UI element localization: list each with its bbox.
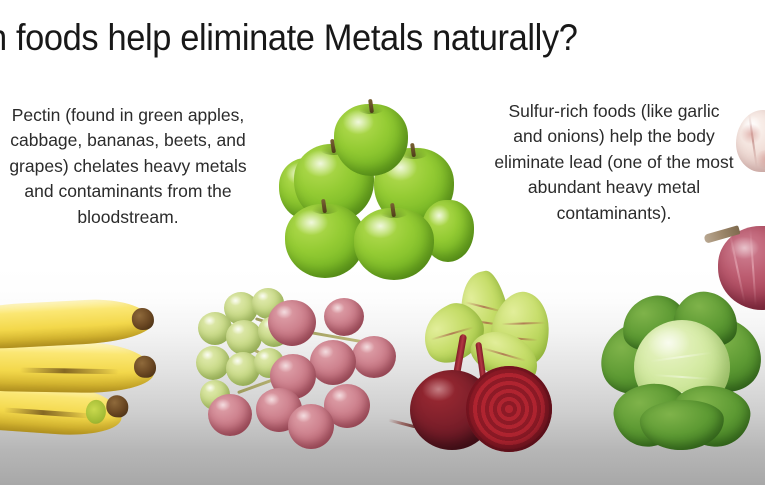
grape-red	[324, 298, 364, 336]
grape-red	[208, 394, 252, 436]
bananas-image	[0, 302, 182, 442]
onion-skin-line	[728, 231, 745, 304]
sulfur-paragraph: Sulfur-rich foods (like garlic and onion…	[492, 99, 736, 226]
cabbage-vein	[650, 352, 712, 362]
beet-leaf-vein	[501, 322, 545, 325]
cabbage-image	[600, 290, 762, 460]
garlic-blush	[740, 124, 762, 144]
pectin-paragraph: Pectin (found in green apples, cabbage, …	[8, 103, 248, 230]
banana-bruise-mark	[20, 368, 119, 375]
slide-canvas: n foods help eliminate Metals naturally?…	[0, 0, 765, 500]
apple-bottom-left	[285, 204, 365, 278]
banana-tip-icon	[131, 307, 154, 330]
grape-green	[196, 346, 230, 380]
cabbage-vein	[654, 374, 710, 379]
beets-image	[404, 272, 552, 464]
banana-green-tip	[85, 399, 107, 424]
background-bottom-strip	[0, 485, 765, 500]
onion-skin-line	[749, 228, 756, 306]
page-title: n foods help eliminate Metals naturally?	[0, 16, 658, 60]
apple-bottom-center	[354, 208, 434, 280]
beet-sliced	[466, 366, 552, 452]
beet-leaf-vein	[431, 326, 474, 340]
banana-bruise-mark	[4, 407, 92, 418]
grapes-image	[196, 286, 396, 464]
banana-tip-icon	[134, 356, 156, 378]
grape-red	[288, 404, 334, 449]
garlic-image	[736, 110, 765, 172]
banana-middle	[0, 340, 154, 394]
grape-red	[310, 340, 356, 385]
grape-red	[268, 300, 316, 346]
grape-red	[352, 336, 396, 378]
banana-back	[0, 297, 153, 352]
banana-tip-icon	[106, 394, 129, 417]
green-apples-image	[276, 104, 472, 274]
grape-green	[226, 320, 262, 355]
beet-leaf-vein	[481, 347, 526, 361]
apple-top	[334, 104, 408, 176]
